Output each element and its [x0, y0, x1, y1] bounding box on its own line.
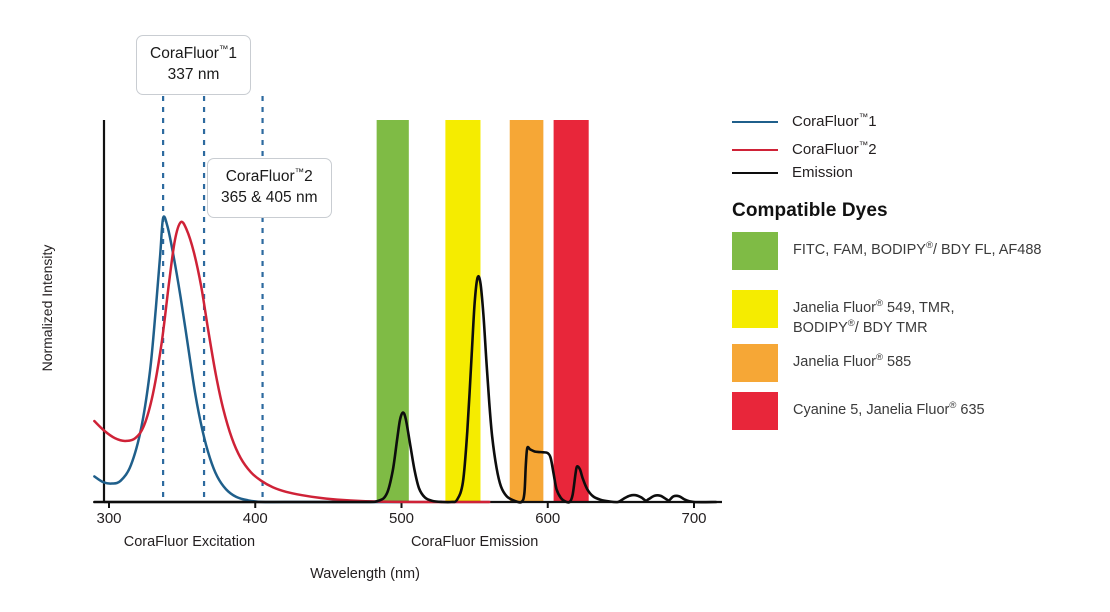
legend-line-swatch [732, 121, 778, 123]
dye-label-line1: Cyanine 5, Janelia Fluor® 635 [793, 402, 985, 418]
dye-row-3[interactable]: Cyanine 5, Janelia Fluor® 635 [732, 392, 1108, 430]
curve-corafluor2 [94, 222, 489, 502]
trademark-icon: ™ [295, 167, 305, 178]
legend-series-0[interactable]: CoraFluor™1 [732, 113, 1102, 130]
spectra-chart: CoraFluor™1 337 nm CoraFluor™2 365 & 405… [0, 0, 730, 612]
legend-line-swatch [732, 172, 778, 174]
axes [104, 120, 722, 508]
dye-color-swatch [732, 290, 778, 328]
legend-series-label: CoraFluor™2 [792, 141, 877, 158]
x-tick-label-300: 300 [79, 510, 139, 527]
dye-label: Cyanine 5, Janelia Fluor® 635 [793, 392, 985, 421]
x-tick-label-700: 700 [664, 510, 724, 527]
registered-icon: ® [949, 400, 956, 411]
legend-series-label: CoraFluor™1 [792, 113, 877, 130]
filter-band-orange [510, 120, 544, 502]
legend-series-name: CoraFluor [792, 141, 859, 158]
callout-corafluor1-number: 1 [228, 45, 237, 62]
legend-series-1[interactable]: CoraFluor™2 [732, 141, 1102, 158]
dye-label-line1: Janelia Fluor® 549, TMR, [793, 300, 954, 316]
x-axis-sublabel-emission: CoraFluor Emission [385, 534, 565, 550]
dye-label: FITC, FAM, BODIPY®/ BDY FL, AF488 [793, 232, 1041, 261]
registered-icon: ® [876, 352, 883, 363]
legend-series-name: Emission [792, 164, 853, 181]
callout-corafluor1: CoraFluor™1 337 nm [136, 35, 251, 95]
trademark-icon: ™ [859, 112, 869, 123]
legend-series-2[interactable]: Emission [732, 164, 1102, 181]
x-axis-title: Wavelength (nm) [0, 566, 730, 582]
filter-band-red [554, 120, 589, 502]
dye-label-line1: Janelia Fluor® 585 [793, 354, 911, 370]
chart-page: CoraFluor™1 337 nm CoraFluor™2 365 & 405… [0, 0, 1110, 612]
dye-label: Janelia Fluor® 585 [793, 344, 911, 373]
dye-color-swatch [732, 392, 778, 430]
callout-corafluor2-line1: CoraFluor™2 [221, 166, 318, 187]
compatible-dyes-title: Compatible Dyes [732, 200, 888, 222]
registered-icon: ® [926, 240, 933, 251]
trademark-icon: ™ [219, 44, 229, 55]
x-axis-sublabel-excitation: CoraFluor Excitation [99, 534, 279, 550]
registered-icon: ® [848, 318, 855, 329]
dye-row-1[interactable]: Janelia Fluor® 549, TMR,BODIPY®/ BDY TMR [732, 290, 1108, 338]
callout-corafluor1-line1: CoraFluor™1 [150, 43, 237, 64]
legend-series-label: Emission [792, 164, 853, 181]
dye-color-swatch [732, 232, 778, 270]
dye-row-2[interactable]: Janelia Fluor® 585 [732, 344, 1108, 382]
callout-corafluor2: CoraFluor™2 365 & 405 nm [207, 158, 332, 218]
legend-series-suffix: 1 [868, 113, 876, 130]
x-tick-label-500: 500 [372, 510, 432, 527]
callout-corafluor2-wavelength: 365 & 405 nm [221, 187, 318, 208]
registered-icon: ® [876, 298, 883, 309]
legend-panel: CoraFluor™1CoraFluor™2Emission Compatibl… [728, 0, 1110, 612]
x-tick-label-400: 400 [225, 510, 285, 527]
excitation-vlines [163, 96, 262, 502]
callout-corafluor2-name: CoraFluor [226, 168, 295, 185]
dye-color-swatch [732, 344, 778, 382]
callout-corafluor2-number: 2 [304, 168, 313, 185]
legend-series-suffix: 2 [868, 141, 876, 158]
legend-series-name: CoraFluor [792, 113, 859, 130]
y-axis-title: Normalized Intensity [39, 228, 55, 388]
legend-line-swatch [732, 149, 778, 151]
x-tick-label-600: 600 [518, 510, 578, 527]
dye-label-line2: BODIPY®/ BDY TMR [793, 319, 954, 339]
callout-corafluor1-wavelength: 337 nm [150, 64, 237, 85]
callout-corafluor1-name: CoraFluor [150, 45, 219, 62]
dye-label: Janelia Fluor® 549, TMR,BODIPY®/ BDY TMR [793, 290, 954, 338]
curve-corafluor1 [94, 216, 401, 502]
trademark-icon: ™ [859, 140, 869, 151]
filter-band-green [377, 120, 409, 502]
dye-row-0[interactable]: FITC, FAM, BODIPY®/ BDY FL, AF488 [732, 232, 1108, 270]
dye-label-line1: FITC, FAM, BODIPY®/ BDY FL, AF488 [793, 242, 1041, 258]
